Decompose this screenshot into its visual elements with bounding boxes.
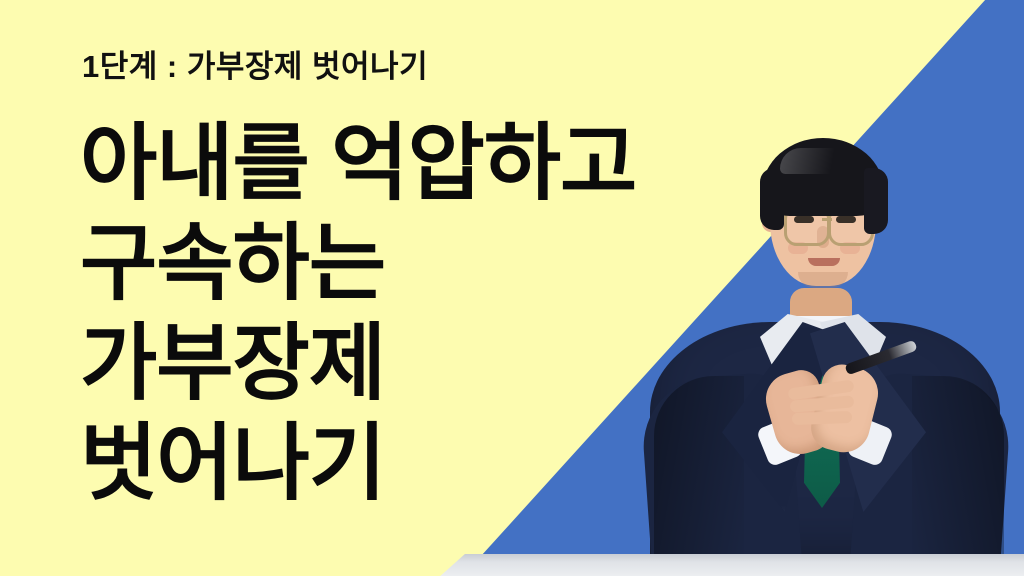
slide-headline: 아내를 억압하고 구속하는 가부장제 벗어나기 bbox=[80, 113, 720, 513]
slide-subtitle: 1단계 : 가부장제 벗어나기 bbox=[82, 48, 720, 87]
headline-line-2: 구속하는 bbox=[80, 213, 720, 313]
mouth bbox=[808, 258, 840, 266]
chin-shadow bbox=[798, 272, 848, 288]
hair-side-left bbox=[760, 168, 784, 230]
eyeglasses-bridge bbox=[822, 218, 832, 221]
hair-side-right bbox=[864, 168, 888, 234]
slide-canvas: 1단계 : 가부장제 벗어나기 아내를 억압하고 구속하는 가부장제 벗어나기 bbox=[0, 0, 1024, 576]
suit-shadow-right bbox=[912, 376, 1004, 576]
slide-text-block: 1단계 : 가부장제 벗어나기 아내를 억압하고 구속하는 가부장제 벗어나기 bbox=[80, 48, 720, 513]
finger bbox=[792, 411, 852, 425]
headline-line-1: 아내를 억압하고 bbox=[80, 113, 720, 213]
hair-highlight bbox=[780, 148, 854, 174]
headline-line-4: 벗어나기 bbox=[80, 413, 720, 513]
headline-line-3: 가부장제 bbox=[80, 313, 720, 413]
